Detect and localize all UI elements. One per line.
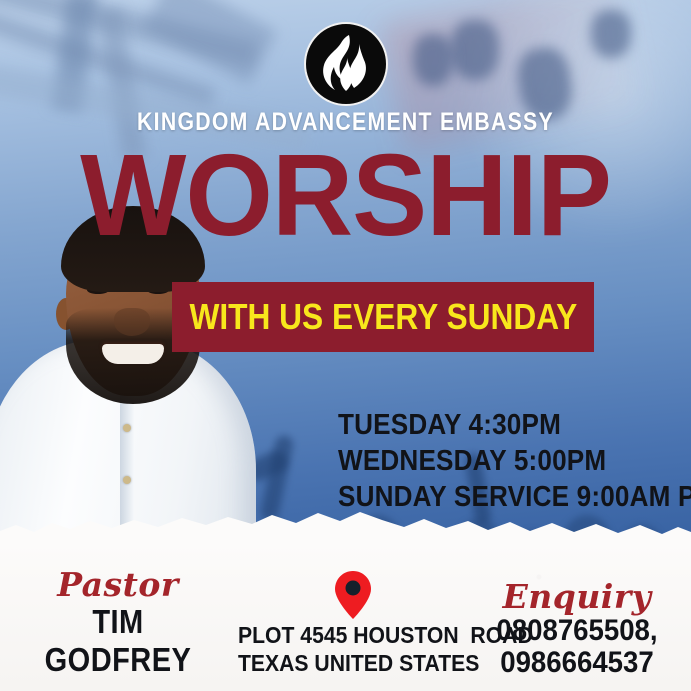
service-time-item: TUESDAY 4:30PM bbox=[338, 407, 691, 443]
service-times-list: TUESDAY 4:30PM WEDNESDAY 5:00PM SUNDAY S… bbox=[338, 407, 691, 515]
address-line-1: PLOT 4545 HOUSTON ROAD bbox=[238, 621, 468, 649]
enquiry-phone-1[interactable]: 0808765508, bbox=[476, 615, 678, 647]
pastor-block: Pastor TIM GODFREY bbox=[6, 567, 230, 679]
torn-paper-edge bbox=[0, 501, 691, 549]
subheadline-banner: WITH US EVERY SUNDAY bbox=[172, 282, 594, 352]
pastor-name: TIM GODFREY bbox=[19, 603, 216, 679]
enquiry-title: Enquiry bbox=[467, 579, 687, 615]
enquiry-phone-2[interactable]: 0986664537 bbox=[476, 647, 678, 679]
address-line-2: TEXAS UNITED STATES bbox=[238, 649, 468, 677]
stage-lamp-decoration bbox=[591, 10, 631, 58]
map-pin-icon bbox=[335, 571, 371, 619]
subheadline-text: WITH US EVERY SUNDAY bbox=[189, 296, 577, 338]
stage-lamp-decoration bbox=[451, 20, 499, 80]
page-title: WORSHIP bbox=[10, 137, 680, 253]
enquiry-block: Enquiry 0808765508, 0986664537 bbox=[467, 579, 687, 679]
flame-logo-icon bbox=[304, 22, 388, 106]
church-flyer: KINGDOM ADVANCEMENT EMBASSY WORSHIP WITH… bbox=[0, 0, 691, 691]
pastor-title: Pastor bbox=[6, 567, 230, 603]
service-time-item: WEDNESDAY 5:00PM bbox=[338, 443, 691, 479]
stage-lamp-decoration bbox=[413, 34, 453, 86]
address-block: PLOT 4545 HOUSTON ROAD TEXAS UNITED STAT… bbox=[228, 571, 478, 677]
